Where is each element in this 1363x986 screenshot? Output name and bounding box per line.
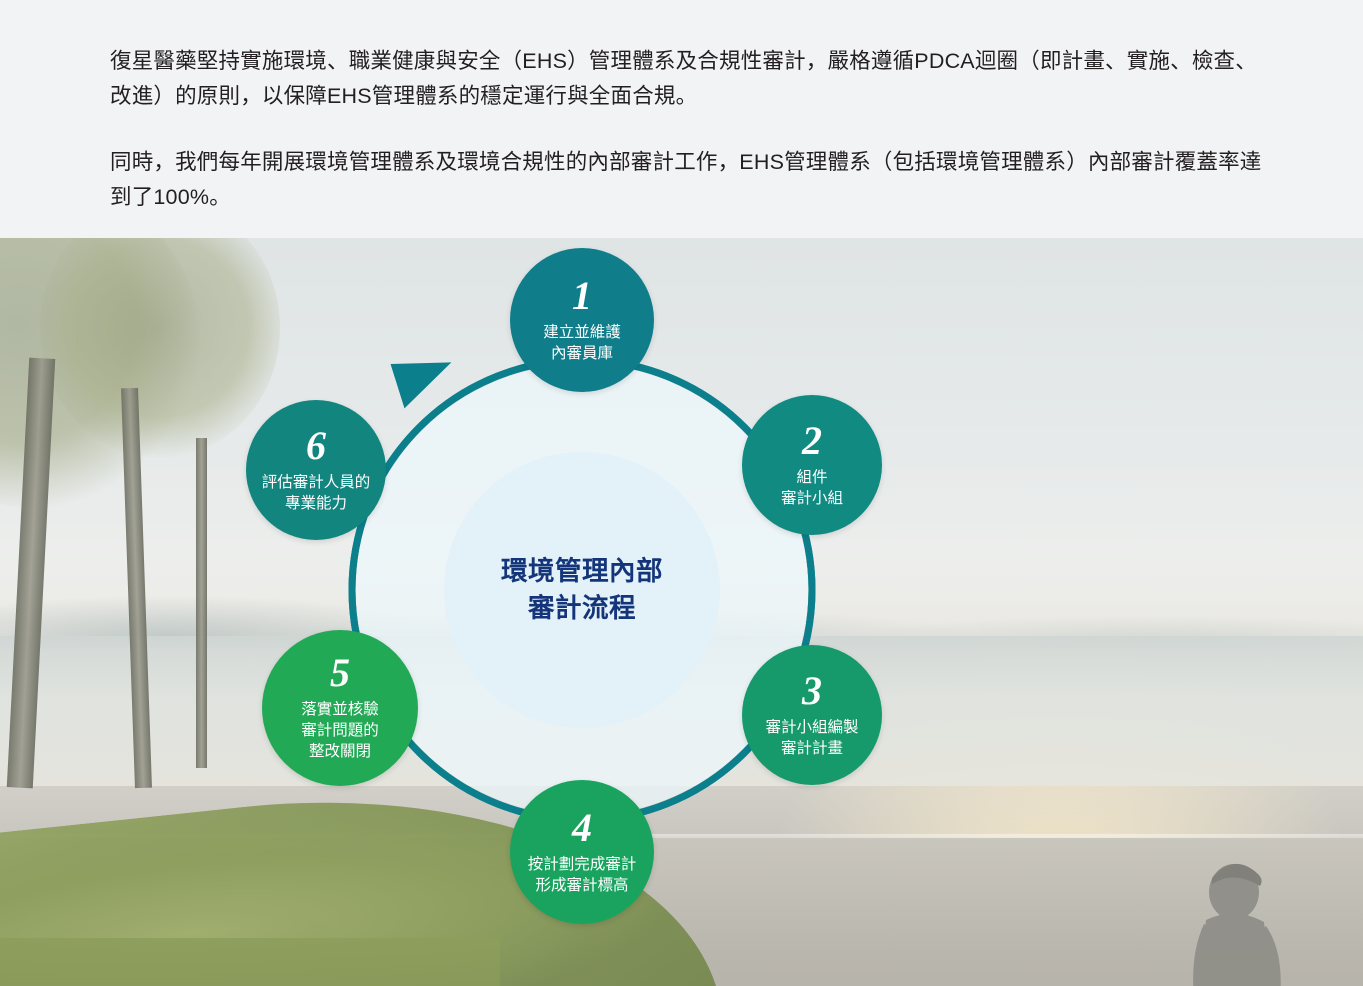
cycle-node-1-number: 1	[572, 276, 592, 316]
cycle-node-3-label: 審計小組編製 審計計畫	[765, 718, 858, 760]
cycle-node-2-number: 2	[802, 421, 822, 461]
cycle-node-5-number: 5	[330, 653, 350, 693]
cycle-node-4-number: 4	[572, 808, 592, 848]
cycle-node-3-number: 3	[802, 671, 822, 711]
audit-process-cycle-diagram: 環境管理內部 審計流程 1 建立並維護 內審員庫 2 組件 審計小組 3 審計小…	[232, 240, 932, 940]
grass-foreground	[0, 938, 500, 986]
cycle-node-5-label: 落實並核驗 審計問題的 整改關閉	[301, 700, 379, 763]
paragraph-2: 同時，我們每年開展環境管理體系及環境合規性的內部審計工作，EHS管理體系（包括環…	[110, 145, 1263, 216]
cycle-node-4-label: 按計劃完成審計 形成審計標高	[528, 855, 637, 897]
cycle-node-6-label: 評估審計人員的 專業能力	[262, 473, 371, 515]
cycle-node-6-number: 6	[306, 426, 326, 466]
cycle-node-2[interactable]: 2 組件 審計小組	[742, 395, 882, 535]
intro-text-block: 復星醫藥堅持實施環境、職業健康與安全（EHS）管理體系及合規性審計，嚴格遵循PD…	[0, 0, 1363, 216]
cycle-node-1[interactable]: 1 建立並維護 內審員庫	[510, 248, 654, 392]
cycle-node-2-label: 組件 審計小組	[781, 468, 843, 510]
cycle-node-5[interactable]: 5 落實並核驗 審計問題的 整改關閉	[262, 630, 418, 786]
paragraph-1: 復星醫藥堅持實施環境、職業健康與安全（EHS）管理體系及合規性審計，嚴格遵循PD…	[110, 44, 1263, 115]
page-root: 復星醫藥堅持實施環境、職業健康與安全（EHS）管理體系及合規性審計，嚴格遵循PD…	[0, 0, 1363, 986]
tree-trunk-left-3	[196, 438, 207, 768]
cycle-center-label: 環境管理內部 審計流程	[501, 553, 663, 626]
runner-silhouette	[1160, 850, 1330, 986]
cycle-node-4[interactable]: 4 按計劃完成審計 形成審計標高	[510, 780, 654, 924]
cycle-node-6[interactable]: 6 評估審計人員的 專業能力	[246, 400, 386, 540]
cycle-node-3[interactable]: 3 審計小組編製 審計計畫	[742, 645, 882, 785]
cycle-node-1-label: 建立並維護 內審員庫	[543, 323, 621, 365]
cycle-center-hub: 環境管理內部 審計流程	[444, 452, 720, 728]
